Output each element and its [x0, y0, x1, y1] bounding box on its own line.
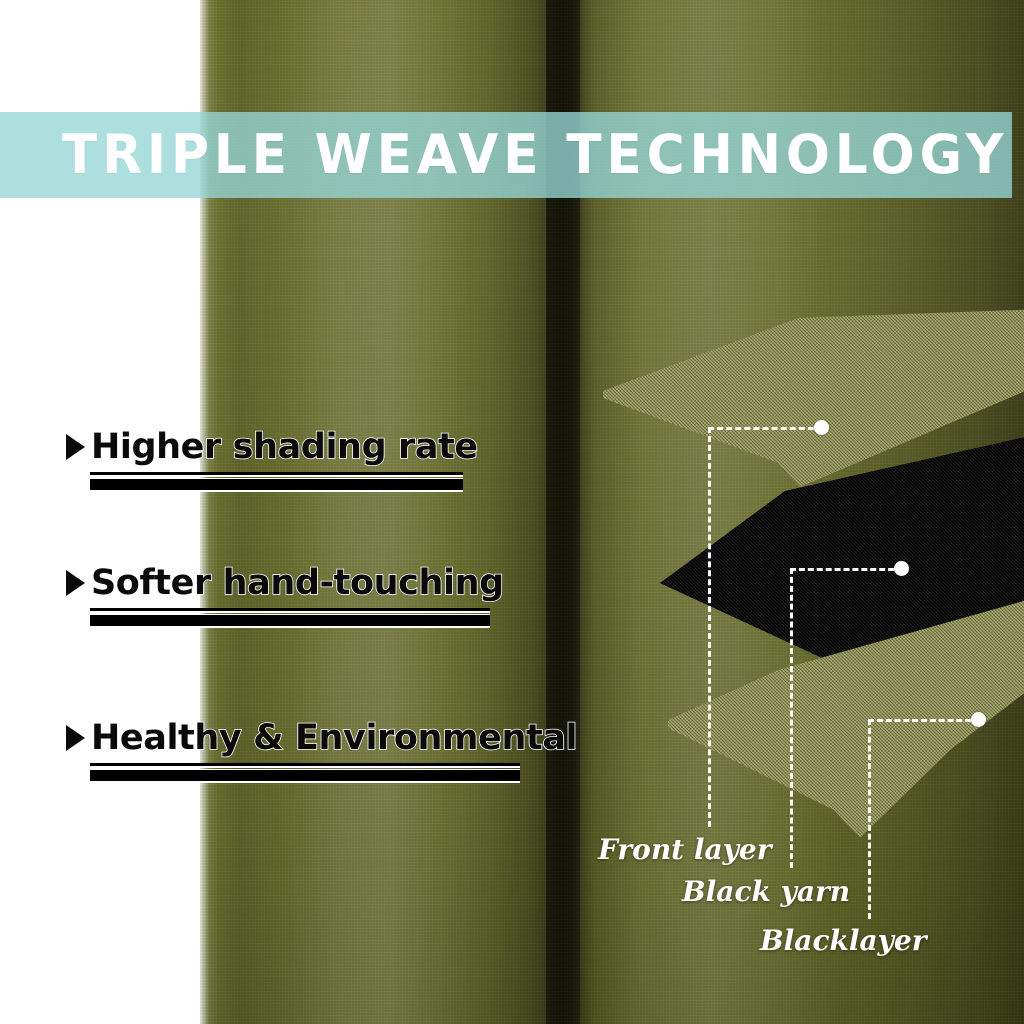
feature-underline-1-thick — [90, 478, 463, 492]
triangle-right-icon — [66, 570, 85, 596]
feature-label-1: Higher shading rate — [91, 427, 478, 467]
dot-marker-icon-yarn — [894, 561, 909, 576]
feature-item-2: Softer hand-touching — [66, 560, 504, 606]
feature-underline-1 — [90, 472, 463, 492]
feature-underline-3 — [90, 763, 520, 783]
leader-line-front-vertical — [708, 427, 711, 827]
page-title: TRIPLE WEAVE TECHNOLOGY — [62, 124, 984, 186]
callout-label-front-layer: Front layer — [598, 834, 771, 866]
leader-line-yarn-horizontal — [790, 568, 903, 571]
feature-underline-2-thick — [90, 614, 490, 628]
product-infographic: Front layer Black yarn Blacklayer TRIPLE… — [0, 0, 1024, 1024]
triangle-right-icon — [66, 725, 85, 751]
feature-underline-2 — [90, 608, 490, 628]
feature-item-1: Higher shading rate — [66, 424, 478, 470]
leader-line-backlayer-horizontal — [868, 719, 980, 722]
feature-label-3: Healthy & Environmental — [91, 718, 577, 758]
callout-label-blacklayer: Blacklayer — [760, 925, 927, 957]
feature-underline-3-thick — [90, 769, 520, 783]
dot-marker-icon-backlayer — [971, 712, 986, 727]
feature-label-2: Softer hand-touching — [91, 563, 504, 603]
leader-line-front-horizontal — [708, 427, 823, 430]
feature-underline-3-thin — [90, 763, 520, 768]
dot-marker-icon-front — [814, 420, 829, 435]
feature-item-3: Healthy & Environmental — [66, 715, 577, 761]
leader-line-backlayer-vertical — [868, 719, 871, 919]
feature-underline-2-thin — [90, 608, 490, 613]
leader-line-yarn-vertical — [790, 568, 793, 868]
triangle-right-icon — [66, 434, 85, 460]
feature-underline-1-thin — [90, 472, 463, 477]
callout-label-black-yarn: Black yarn — [682, 876, 850, 908]
